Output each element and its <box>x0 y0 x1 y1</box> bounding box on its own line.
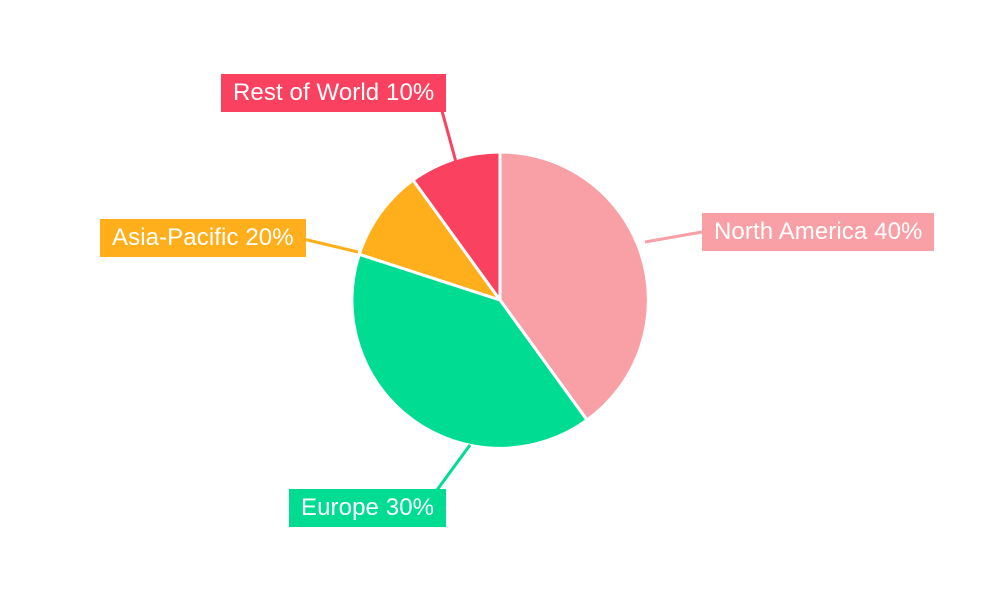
pie-label-europe[interactable]: Europe 30% <box>289 489 446 527</box>
pie-label-asia-pacific[interactable]: Asia-Pacific 20% <box>100 219 306 257</box>
leader-line-europe <box>437 445 470 490</box>
pie-chart-canvas <box>0 0 1000 600</box>
pie-chart-figure: North America 40% Europe 30% Asia-Pacifi… <box>0 0 1000 600</box>
leader-line-rest-of-world <box>442 111 456 162</box>
leader-line-north-america <box>645 232 702 242</box>
pie-label-north-america[interactable]: North America 40% <box>702 213 934 251</box>
leader-line-asia-pacific <box>299 238 358 252</box>
pie-slices-group <box>352 152 648 448</box>
pie-label-rest-of-world[interactable]: Rest of World 10% <box>221 74 446 112</box>
